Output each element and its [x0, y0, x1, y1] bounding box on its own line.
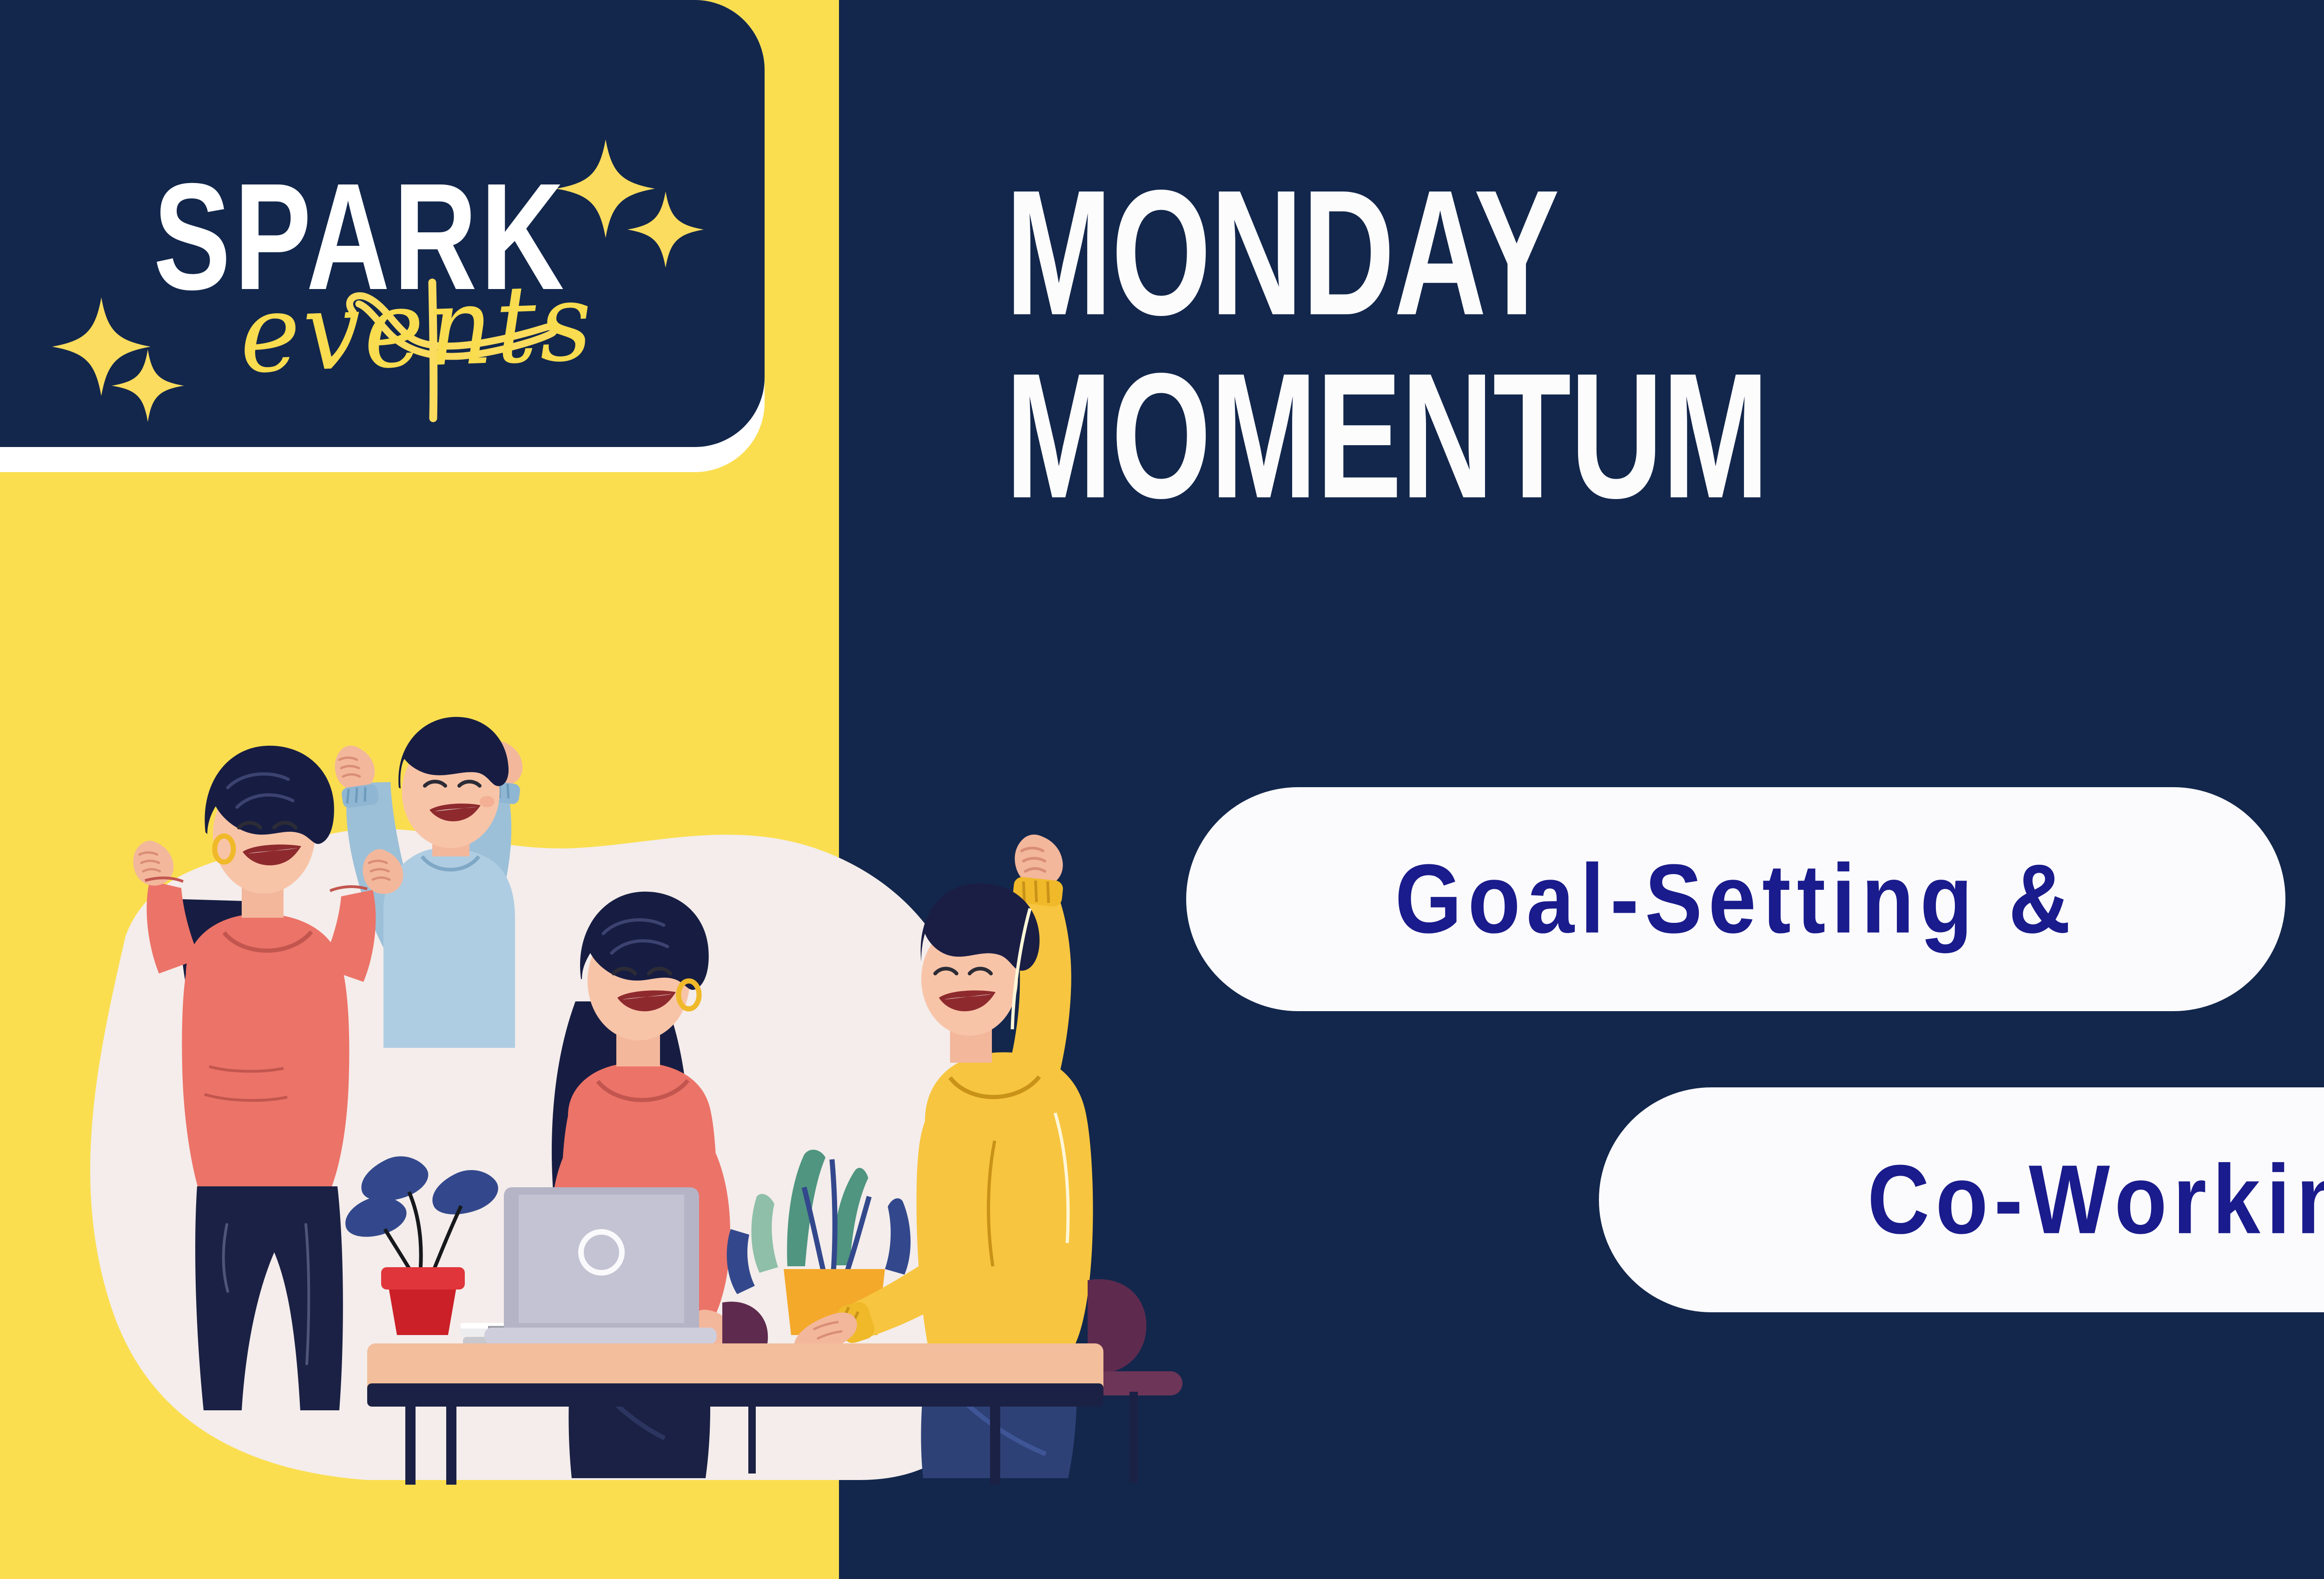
logo-lockup: SPARK events [0, 0, 790, 474]
celebration-illustration [42, 648, 1232, 1485]
subtitle-pill-co-working: Co-Working [1599, 1087, 2324, 1312]
sparkle-icon [627, 191, 704, 268]
headline-line-1: MONDAY [1005, 165, 2324, 340]
sparkle-icon [52, 297, 151, 396]
poster-canvas: SPARK events MONDAY MOMENTUM Goal-Settin… [0, 0, 2324, 1579]
sparkle-icon [112, 349, 184, 422]
subtitle-pill-label: Goal-Setting & [1395, 850, 2077, 948]
subtitle-pill-label: Co-Working [1868, 1151, 2324, 1249]
headline-line-2: MOMENTUM [1005, 348, 2324, 523]
sparkle-icon [556, 139, 655, 238]
headline-block: MONDAY MOMENTUM [1005, 165, 2324, 485]
logo-script-subname: events [238, 268, 596, 388]
subtitle-pill-goal-setting: Goal-Setting & [1186, 787, 2285, 1011]
